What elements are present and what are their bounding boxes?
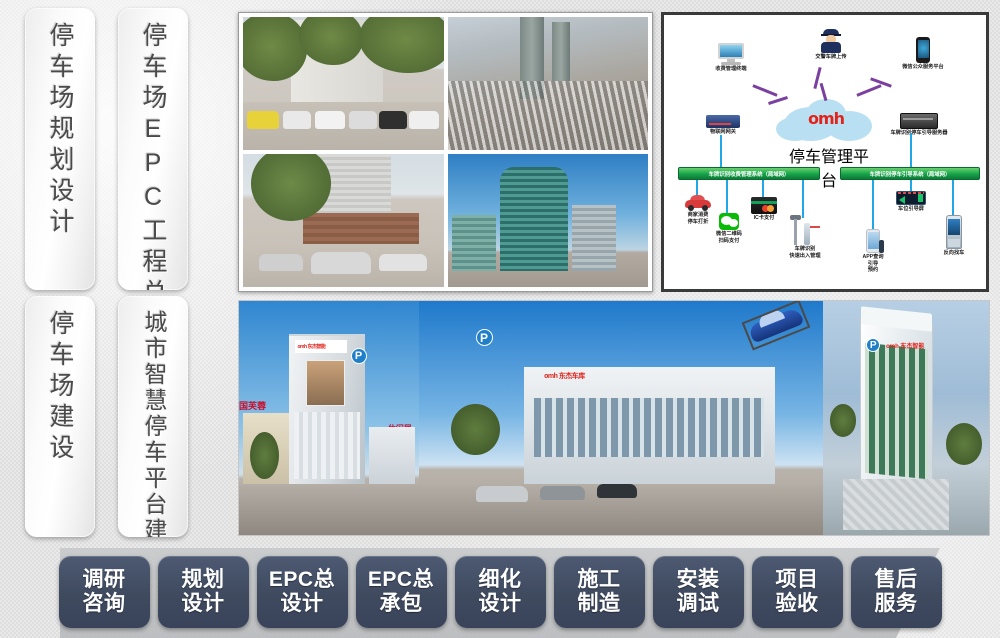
diagram-box-guidance-system: 车牌识别停车引导系统（局域网） [840,167,980,180]
diagram-leaf-label: 反向找车 [936,250,972,257]
step-line-1: 安装 [677,568,720,592]
process-step-survey-consulting[interactable]: 调研 咨询 [59,556,150,628]
smartphone-icon [916,37,930,63]
render-billboard [306,360,345,406]
diagram-node-label: 交警车牌上传 [796,54,866,61]
photo-car-shape [283,111,311,128]
connector-wire [802,180,804,218]
render-brand-label: omh 东杰智能 [295,340,346,352]
diagram-leaf-ic-card-payment: IC卡支付 [746,197,782,222]
render-facade-stripes [294,412,361,479]
diagram-leaf-reverse-car-finding: 反向找车 [936,215,972,257]
step-line-2: 设计 [281,592,324,616]
diagram-cloud-platform: omh 停车管理平台 [776,99,882,151]
photo-car-shape [247,111,279,128]
diagram-node-label: 微信公众服务平台 [886,64,960,71]
sidebar-card-label: 停车场规划设计 [47,22,73,239]
render-brand-label: omh 东杰车库 [544,371,644,390]
diagram-box-label: 车牌识别停车引导系统（局域网） [870,170,951,178]
monitor-icon [718,43,744,65]
connector-wire [910,133,912,167]
render-car-shape [597,484,637,498]
render-plaza-shape [843,479,949,530]
step-line-2: 服务 [875,592,918,616]
router-icon [706,115,740,128]
photo-car-shape [379,111,407,128]
render-car-shape [476,486,529,502]
render-facade-louvers [534,398,764,456]
step-line-2: 验收 [776,592,819,616]
connector-bolt [856,84,881,97]
process-step-epc-design[interactable]: EPC总 设计 [257,556,348,628]
process-step-planning-design[interactable]: 规划 设计 [158,556,249,628]
step-line-2: 制造 [578,592,621,616]
architectural-render-panel: omh 东杰智能 P 国芙蓉 休闲居 omh 东杰车库 P P om [238,300,990,536]
diagram-leaf-label: 车牌识别 快速出入管理 [782,246,828,259]
ic-card-icon [751,197,777,214]
diagram-node-traffic-police: 交警车牌上传 [796,29,866,61]
connector-wire [952,180,954,218]
connector-wire [726,180,728,214]
system-architecture-diagram: 收费管理终端 交警车牌上传 微信公众服务平台 物联网网关 车牌识别停车引导服务器… [661,12,989,292]
sidebar-card-parking-construction[interactable]: 停车场建设 [25,296,95,537]
diagram-leaf-app-query: APP查询 引导 预约 [854,229,892,274]
process-step-after-sales-service[interactable]: 售后 服务 [851,556,942,628]
diagram-node-label: 车牌识别停车引导服务器 [874,130,964,137]
led-guidance-sign-icon [896,191,926,205]
render-tree-shape [830,404,857,437]
diagram-leaf-lpr-access-control: 车牌识别 快速出入管理 [782,215,828,259]
step-line-1: EPC总 [269,568,335,592]
photo-brick-building-shape [303,213,419,248]
diagram-box-toll-system: 车牌识别收费管理系统（局域网） [678,167,820,180]
render-scene-aerial-tower-garage: P omh 东杰智能 [823,301,989,535]
app-phone-icon [866,229,880,253]
server-icon [900,113,938,129]
photo-office-tower-exterior: 写字楼外景 [448,154,649,287]
photo-collage-panel: 地面停车场 航拍停车区 小区停车场 写字楼外景 [238,12,653,292]
step-line-1: 施工 [578,568,621,592]
connector-wire [762,180,764,198]
omh-brand-logo: omh [798,109,854,128]
render-tree-shape [946,423,983,465]
diagram-leaf-label: 微信二维码 扫码支付 [708,231,750,244]
diagram-leaf-guidance-screen: 车位引导屏 [894,191,928,213]
sidebar-card-parking-planning-design[interactable]: 停车场规划设计 [25,8,95,290]
step-line-1: 规划 [182,568,225,592]
photo-car-shape [349,111,377,128]
sidebar-card-label: 停车场建设 [47,310,73,465]
process-flow-bar: 调研 咨询 规划 设计 EPC总 设计 EPC总 承包 细化 设计 施工 制造 … [0,542,1000,638]
process-step-installation-commissioning[interactable]: 安装 调试 [653,556,744,628]
step-line-2: 设计 [479,592,522,616]
render-garage-shape: omh 东杰车库 [524,367,774,489]
photo-tower-shape [552,22,570,81]
photo-surface-parking-lot-trees: 地面停车场 [243,17,444,150]
photo-glass-tower-shape [500,167,568,271]
sidebar-card-smart-parking-platform[interactable]: 城市智慧停车平台建设 [118,296,188,537]
process-step-project-acceptance[interactable]: 项目 验收 [752,556,843,628]
red-car-icon [685,195,711,211]
process-steps-container: 调研 咨询 规划 设计 EPC总 设计 EPC总 承包 细化 设计 施工 制造 … [0,556,1000,634]
diagram-leaf-label: IC卡支付 [746,215,782,222]
diagram-leaf-wechat-qr-payment: 微信二维码 扫码支付 [708,213,750,244]
render-road-shape [239,484,419,535]
photo-parked-cars-rows [448,81,649,150]
connector-wire [720,135,722,167]
render-tree-shape [451,404,499,455]
step-line-1: 项目 [776,568,819,592]
render-green-facade [865,342,928,479]
render-car-shape [540,486,584,500]
diagram-node-label: 物联网网关 [690,129,756,136]
step-line-1: 细化 [479,568,522,592]
photo-car-shape [379,254,427,271]
step-line-1: EPC总 [368,568,434,592]
photo-aerial-parking-view: 航拍停车区 [448,17,649,150]
barrier-gate-icon [790,215,820,245]
wechat-icon [719,213,739,230]
photo-side-building-shape [572,205,616,272]
connector-bolt [752,84,777,97]
render-roof-shape [861,306,932,331]
photo-car-shape [259,254,303,271]
traffic-police-icon [821,29,841,53]
process-step-construction-manufacturing[interactable]: 施工 制造 [554,556,645,628]
diagram-node-iot-gateway: 物联网网关 [690,115,756,136]
render-scene-vertical-garage: omh 东杰智能 P 国芙蓉 休闲居 [239,301,419,535]
photo-parking-lot-brick-building: 小区停车场 [243,154,444,287]
photo-car-shape [409,111,439,128]
step-line-2: 设计 [182,592,225,616]
kiosk-icon [946,215,962,249]
photo-car-shape [315,111,345,128]
diagram-node-label: 收费管理终端 [698,66,764,73]
sidebar-card-label: 停车场EPC工程总承包 [140,22,166,290]
photo-car-shape [311,252,371,273]
diagram-leaf-label: 车位引导屏 [894,206,928,213]
diagram-node-toll-terminal: 收费管理终端 [698,43,764,73]
process-step-epc-contracting[interactable]: EPC总 承包 [356,556,447,628]
connector-wire [872,180,874,232]
step-line-2: 咨询 [83,592,126,616]
diagram-node-wechat-public-platform: 微信公众服务平台 [886,37,960,71]
diagram-node-guidance-server: 车牌识别停车引导服务器 [874,113,964,137]
render-scene-multistory-garage: omh 东杰车库 P [419,301,823,535]
render-blue-car-icon [741,301,810,351]
process-step-detailed-design[interactable]: 细化 设计 [455,556,546,628]
sidebar-card-label: 城市智慧停车平台建设 [141,310,165,537]
diagram-leaf-label: APP查询 引导 预约 [854,254,892,274]
step-line-1: 调研 [83,568,126,592]
diagram-box-label: 车牌识别收费管理系统（局域网） [709,170,790,178]
step-line-2: 调试 [677,592,720,616]
photo-tree-shape [243,17,307,81]
service-category-sidebar: 停车场规划设计 停车场EPC工程总承包 停车场建设 城市智慧停车平台建设 [0,0,228,545]
sidebar-card-parking-epc-contracting[interactable]: 停车场EPC工程总承包 [118,8,188,290]
step-line-1: 售后 [875,568,918,592]
render-brand-label: omh 东杰智能 [886,341,962,350]
parking-badge-icon: P [476,329,493,346]
connector-wire [696,180,698,196]
parking-badge-icon: P [351,348,367,364]
render-tree-shape [250,432,279,479]
photo-side-building-shape [452,215,496,271]
step-line-2: 承包 [380,592,423,616]
